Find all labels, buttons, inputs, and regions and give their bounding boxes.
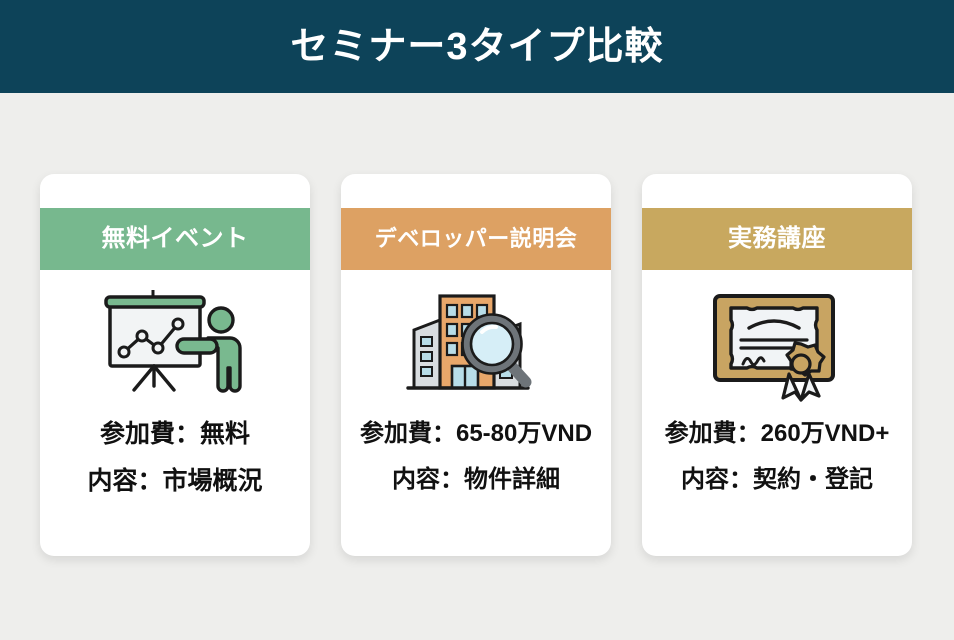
card-lines: 参加費：260万VND+ 内容：契約・登記 [642, 422, 912, 492]
card-band-label: デベロッパー説明会 [375, 228, 578, 250]
card-lines: 参加費：65-80万VND 内容：物件詳細 [341, 422, 611, 492]
card-fee-line: 参加費：260万VND+ [665, 422, 890, 446]
card-fee-line: 参加費：無料 [100, 422, 250, 447]
card-content-line: 内容：契約・登記 [681, 468, 873, 492]
seminar-card-developer-briefing[interactable]: デベロッパー説明会 [341, 174, 611, 556]
card-content-line: 内容：市場概況 [87, 469, 262, 494]
card-band-practical-course: 実務講座 [642, 208, 912, 270]
page-title: セミナー3タイプ比較 [290, 28, 663, 66]
certificate-ribbon-icon [642, 279, 912, 404]
card-lines: 参加費：無料 内容：市場概況 [40, 422, 310, 494]
card-band-label: 実務講座 [728, 227, 826, 251]
card-band-label: 無料イベント [102, 227, 249, 251]
presentation-chart-presenter-icon [40, 279, 310, 404]
card-band-developer-briefing: デベロッパー説明会 [341, 208, 611, 270]
comparison-cards-row: 無料イベント [40, 174, 912, 556]
card-fee-line: 参加費：65-80万VND [360, 422, 592, 446]
card-content-line: 内容：物件詳細 [392, 468, 560, 492]
header-bar: セミナー3タイプ比較 [0, 0, 954, 93]
buildings-magnifier-icon [341, 279, 611, 404]
seminar-card-free-event[interactable]: 無料イベント [40, 174, 310, 556]
card-band-free-event: 無料イベント [40, 208, 310, 270]
seminar-card-practical-course[interactable]: 実務講座 [642, 174, 912, 556]
